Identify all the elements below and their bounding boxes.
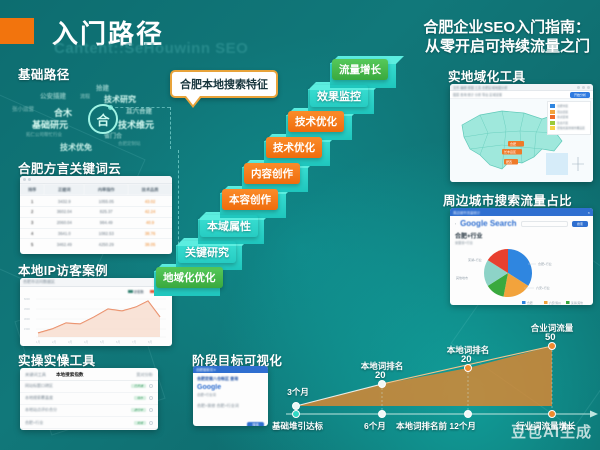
search-input[interactable] bbox=[521, 221, 568, 227]
legend-label: 安徽省其他城市覆盖区 bbox=[557, 126, 585, 130]
timeline-x-label-0: 基础堆引达标 bbox=[272, 420, 323, 432]
stair-label-6[interactable]: 本域属性 bbox=[200, 215, 258, 237]
tab-competitor[interactable]: 竞对分析 bbox=[136, 372, 153, 378]
stair-label-4[interactable]: 内容创作 bbox=[244, 163, 300, 184]
legend-swatch-icon bbox=[544, 301, 548, 304]
svg-text:3月: 3月 bbox=[68, 340, 72, 344]
geo-toolbar-items[interactable]: 图层 查询 统计 分析 导出 区域设置 bbox=[453, 92, 502, 97]
legend-item: 合肥市区 bbox=[550, 104, 588, 108]
legend-item: 周边县区 bbox=[550, 110, 588, 114]
stair-label-7[interactable]: 关键研究 bbox=[178, 241, 236, 263]
window-controls[interactable] bbox=[577, 86, 590, 89]
compass-icon bbox=[572, 157, 584, 171]
tool-row-toggle-icon[interactable] bbox=[149, 421, 153, 425]
legend-swatch-icon bbox=[550, 110, 555, 114]
legend-label: 六安/滁州 bbox=[549, 301, 561, 305]
window-dot-icon bbox=[28, 178, 31, 181]
slide-canvas: 入门路径 Cantent::SeHouwinn SEO 合肥企业SEO入门指南：… bbox=[0, 0, 600, 450]
geo-tools-panel[interactable]: 文件 编辑 视图 工具 合肥区域地图分析 图层 查询 统计 分析 导出 区域设置… bbox=[450, 84, 593, 182]
stage-goals-panel[interactable]: 合肥搜索词 ▾ 合肥定做八仓帐区 查询 Google 合肥+行业词 合肥+装修 … bbox=[193, 366, 268, 426]
table-cell: 1055.05 bbox=[84, 196, 128, 207]
timeline-x-label-1: 6个月 bbox=[364, 420, 386, 432]
search-button[interactable]: 搜索 bbox=[572, 221, 588, 227]
timeline-axis-node[interactable] bbox=[548, 410, 556, 418]
speech-bubble-text: 合肥本地搜索特征 bbox=[180, 79, 268, 91]
geo-toolbar[interactable]: 图层 查询 统计 分析 导出 区域设置 开始分析 bbox=[450, 91, 593, 99]
tool-row-tag: 已开通 bbox=[131, 384, 146, 388]
pie-label: 六安+行业 bbox=[536, 285, 550, 290]
legend-swatch-icon bbox=[550, 126, 555, 130]
table-cell: 3462.49 bbox=[44, 239, 84, 249]
table-cell: 4250.29 bbox=[84, 239, 128, 249]
legend-swatch-icon bbox=[128, 290, 133, 293]
cloud-word: 技术优免 bbox=[60, 142, 92, 153]
connector-knob bbox=[108, 105, 113, 110]
svg-text:5月: 5月 bbox=[100, 340, 104, 344]
speech-bubble: 合肥本地搜索特征 bbox=[170, 70, 278, 98]
stair-label-2[interactable]: 技术优化 bbox=[288, 111, 344, 132]
timeline-value-1: 20 bbox=[375, 370, 386, 381]
stair-label-3[interactable]: 技术优化 bbox=[266, 137, 322, 158]
pie-label: 合肥+行业 bbox=[538, 261, 552, 266]
table-cell: 825.37 bbox=[84, 206, 128, 217]
table-cell: 5 bbox=[20, 239, 44, 249]
table-cell: 3641.0 bbox=[44, 228, 84, 239]
svg-text:4月: 4月 bbox=[84, 340, 88, 344]
section-ip-case: 本地IP访客案例 bbox=[18, 260, 108, 279]
legend-swatch-icon bbox=[550, 121, 555, 125]
tool-row[interactable]: 合肥+行业完成 bbox=[20, 417, 158, 429]
connector-line bbox=[170, 107, 171, 149]
pie-subnote: 安徽省+行业 bbox=[455, 240, 588, 245]
analyze-button[interactable]: 开始分析 bbox=[570, 92, 590, 98]
svg-text:长丰县区: 长丰县区 bbox=[504, 149, 516, 154]
table-cell: 2060.04 bbox=[44, 217, 84, 228]
maximize-icon[interactable] bbox=[582, 86, 585, 89]
section-city-share: 周边城市搜索流量占比 bbox=[443, 190, 572, 209]
legend-swatch-icon bbox=[550, 104, 555, 108]
close-icon[interactable]: × bbox=[588, 210, 590, 215]
table-cell: 2 bbox=[20, 206, 44, 217]
legend-swatch-icon bbox=[566, 301, 570, 304]
legend-label: 芜湖/其他 bbox=[571, 301, 583, 305]
svg-text:6000: 6000 bbox=[24, 297, 30, 301]
tools-row-list[interactable]: 网站标题口碑区已开通本地搜索覆盖度待办本地站点评价合分进行中合肥+行业完成 bbox=[20, 381, 158, 430]
timeline-axis-node[interactable] bbox=[292, 410, 300, 418]
tool-row-label: 本地搜索覆盖度 bbox=[25, 395, 53, 401]
table-cell: 984.49 bbox=[84, 217, 128, 228]
minimize-icon[interactable] bbox=[577, 86, 580, 89]
axis-arrow-icon bbox=[590, 411, 598, 418]
cloud-word: 拓仁公司帮忙行业 bbox=[26, 132, 62, 138]
tab-local-index[interactable]: 本地搜索指数 bbox=[56, 372, 84, 378]
timeline-value-2: 20 bbox=[461, 354, 472, 365]
search-line-1: 合肥定做八仓帐区 查询 bbox=[197, 376, 264, 382]
svg-text:6月: 6月 bbox=[116, 340, 120, 344]
watermark: 豆包AI生成 bbox=[511, 421, 592, 442]
timeline-axis-node[interactable] bbox=[378, 410, 386, 418]
city-share-pie-chart: 合肥+行业六安+行业芜湖+行业其他地市合肥六安/滁州芜湖/其他 bbox=[450, 245, 593, 305]
section-geo-tools: 实地域化工具 bbox=[448, 66, 525, 85]
table-cell: 3 bbox=[20, 217, 44, 228]
timeline-value-3: 50 bbox=[545, 332, 556, 343]
timeline-x-label-2: 本地词排名前 12个月 bbox=[396, 420, 476, 432]
legend-swatch-icon bbox=[550, 115, 555, 119]
table-cell: 1 bbox=[20, 196, 44, 207]
svg-text:4500: 4500 bbox=[24, 307, 30, 311]
tool-row[interactable]: 本地站点评价合分进行中 bbox=[20, 405, 158, 417]
pie-label: 其他地市 bbox=[456, 275, 468, 280]
legend-item: 访客数 bbox=[128, 289, 144, 294]
table-cell: 1082.53 bbox=[84, 228, 128, 239]
legend-label: 合肥 bbox=[527, 301, 533, 305]
timeline-node[interactable] bbox=[548, 342, 556, 350]
city-share-panel[interactable]: 周边城市流量统计 × ‹ Google Search 搜索 合肥+行业 安徽省+… bbox=[450, 208, 593, 305]
cloud-word: 合肥定制站 bbox=[118, 141, 141, 147]
close-icon[interactable] bbox=[587, 86, 590, 89]
window-title: 周边城市流量统计 bbox=[453, 210, 480, 215]
panel-title: 合肥市访问数据区 bbox=[23, 279, 55, 285]
back-chevron-icon[interactable]: ‹ bbox=[455, 222, 456, 226]
svg-text:合肥: 合肥 bbox=[510, 141, 516, 146]
stair-label-5[interactable]: 本容创作 bbox=[222, 189, 278, 210]
pie-label: 芜湖+行业 bbox=[468, 257, 482, 262]
panel-titlebar: 周边城市流量统计 × bbox=[450, 208, 593, 216]
table-header-cell: 排序 bbox=[20, 184, 44, 196]
tools-footer: 共 4 条记录 < 1 > bbox=[20, 429, 158, 430]
legend-label: 合肥市区 bbox=[557, 104, 568, 108]
hefei-logo-icon: 合 bbox=[88, 104, 118, 134]
section-keyword-cloud: 合肥方言关键词云 bbox=[18, 158, 121, 177]
tool-row-toggle-icon[interactable] bbox=[149, 408, 153, 412]
cloud-word: 基础研元 bbox=[32, 118, 68, 131]
panel-titlebar: 文件 编辑 视图 工具 合肥区域地图分析 bbox=[450, 84, 593, 91]
table-cell: 4 bbox=[20, 228, 44, 239]
tool-row[interactable]: 网站标题口碑区已开通 bbox=[20, 381, 158, 393]
legend-label: 周边县区 bbox=[557, 110, 568, 114]
search-line-2: 合肥+装修 合肥+行业词 bbox=[197, 403, 264, 409]
tool-row-label: 合肥+行业 bbox=[25, 420, 43, 426]
tool-row-label: 本地站点评价合分 bbox=[25, 407, 57, 413]
svg-text:3000: 3000 bbox=[24, 317, 30, 321]
stair-label-8[interactable]: 地域化优化 bbox=[156, 267, 223, 288]
cloud-word: 技术维元 bbox=[118, 118, 154, 131]
svg-text:2月: 2月 bbox=[52, 340, 56, 344]
legend-item: 重点区域 bbox=[550, 115, 588, 119]
stair-label-1[interactable]: 效果监控 bbox=[310, 85, 368, 107]
pie-title: 合肥+行业 bbox=[455, 231, 588, 240]
stair-label-0[interactable]: 流量增长 bbox=[332, 59, 388, 80]
cloud-word: 技术研究 bbox=[104, 94, 136, 105]
timeline-node[interactable] bbox=[378, 380, 386, 388]
legend-item: 六安/滁州 bbox=[544, 301, 561, 305]
legend-item: 合肥 bbox=[522, 301, 533, 305]
timeline-annotation-0: 3个月 bbox=[276, 386, 320, 398]
connector-line bbox=[110, 107, 170, 108]
timeline-node[interactable] bbox=[292, 402, 300, 410]
svg-text:肥西: 肥西 bbox=[506, 160, 512, 164]
tool-row-toggle-icon[interactable] bbox=[149, 396, 153, 400]
window-dot-icon bbox=[23, 178, 26, 181]
svg-text:7月: 7月 bbox=[132, 340, 136, 344]
table-header-cell: 正据词 bbox=[44, 184, 84, 196]
tools-tabs[interactable]: 关键词工具 本地搜索指数 竞对分析 bbox=[20, 368, 158, 381]
practice-tools-panel[interactable]: 关键词工具 本地搜索指数 竞对分析 网站标题口碑区已开通本地搜索覆盖度待办本地站… bbox=[20, 368, 158, 430]
table-header-cell: 内率指作 bbox=[84, 184, 128, 196]
tool-row-tag: 完成 bbox=[134, 421, 146, 425]
google-brand: Google Search bbox=[460, 219, 516, 228]
panel-titlebar: 合肥搜索词 ▾ bbox=[193, 366, 268, 373]
search-header: 合肥搜索词 ▾ bbox=[196, 367, 216, 372]
timeline-node[interactable] bbox=[464, 364, 472, 372]
tool-row-toggle-icon[interactable] bbox=[149, 384, 153, 388]
header-accent-bar bbox=[0, 18, 34, 44]
map-legend: 合肥市区周边县区重点区域生态片区安徽省其他城市覆盖区 bbox=[547, 101, 591, 135]
search-button[interactable]: 搜索 bbox=[247, 422, 264, 426]
legend-swatch-icon bbox=[522, 301, 526, 304]
section-practice-tools: 实操实懆工具 bbox=[18, 350, 95, 369]
legend-label: 重点区域 bbox=[557, 115, 568, 119]
svg-text:8月: 8月 bbox=[148, 340, 152, 344]
guide-title: 合肥企业SEO入门指南： 从零开启可持续流量之门 bbox=[423, 18, 590, 56]
cloud-word: 流程 bbox=[80, 93, 90, 100]
brand-sub: 合肥+行业词 bbox=[197, 392, 264, 397]
tool-row[interactable]: 本地搜索覆盖度待办 bbox=[20, 393, 158, 405]
cloud-word: 省门合 bbox=[104, 131, 122, 140]
svg-text:1月: 1月 bbox=[36, 340, 40, 344]
legend-label: 生态片区 bbox=[557, 121, 568, 125]
legend-item: 芜湖/其他 bbox=[566, 301, 583, 305]
timeline-axis-node[interactable] bbox=[464, 410, 472, 418]
guide-title-line1: 合肥企业SEO入门指南： bbox=[423, 18, 590, 37]
cloud-word: 张小运营 bbox=[12, 105, 34, 113]
tool-row-tag: 进行中 bbox=[131, 408, 146, 412]
cloud-word: 拾建 bbox=[96, 82, 109, 92]
legend-item: 安徽省其他城市覆盖区 bbox=[550, 126, 588, 130]
tab-keyword-tool[interactable]: 关键词工具 bbox=[25, 372, 46, 378]
tool-row-tag: 待办 bbox=[134, 396, 146, 400]
menu-bar: 文件 编辑 视图 工具 合肥区域地图分析 bbox=[453, 85, 508, 90]
table-cell: 3432.9 bbox=[44, 196, 84, 207]
tool-row-label: 网站标题口碑区 bbox=[25, 383, 53, 389]
cloud-word: 公安插建 bbox=[40, 90, 66, 100]
legend-item: 生态片区 bbox=[550, 121, 588, 125]
guide-title-line2: 从零开启可持续流量之门 bbox=[423, 37, 590, 56]
table-cell: 3602.04 bbox=[44, 206, 84, 217]
brand-label: Google bbox=[197, 384, 264, 391]
svg-text:1500: 1500 bbox=[24, 327, 30, 331]
